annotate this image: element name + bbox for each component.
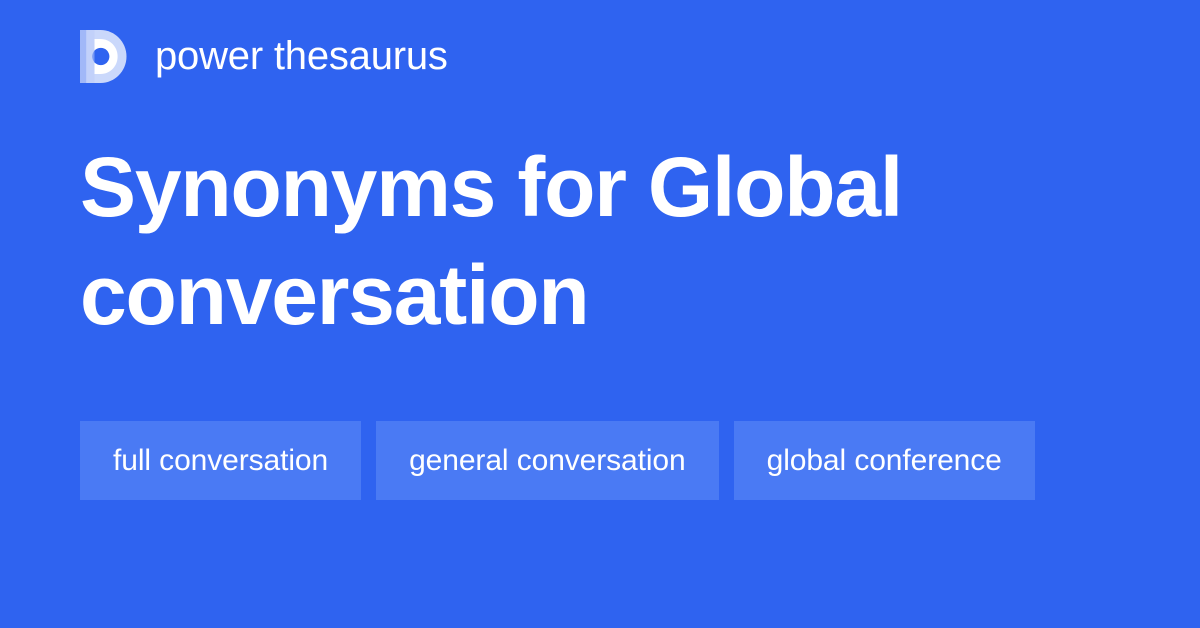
synonym-chip[interactable]: global conference — [734, 421, 1035, 500]
synonym-chip-list: full conversation general conversation g… — [80, 421, 1120, 500]
page-title: Synonyms for Global conversation — [80, 133, 1120, 349]
brand-header[interactable]: power thesaurus — [80, 28, 448, 84]
power-thesaurus-b-logo-icon — [80, 30, 127, 83]
og-card: power thesaurus Synonyms for Global conv… — [0, 0, 1200, 628]
brand-name: power thesaurus — [155, 36, 448, 76]
synonym-chip[interactable]: general conversation — [376, 421, 719, 500]
synonym-chip[interactable]: full conversation — [80, 421, 361, 500]
